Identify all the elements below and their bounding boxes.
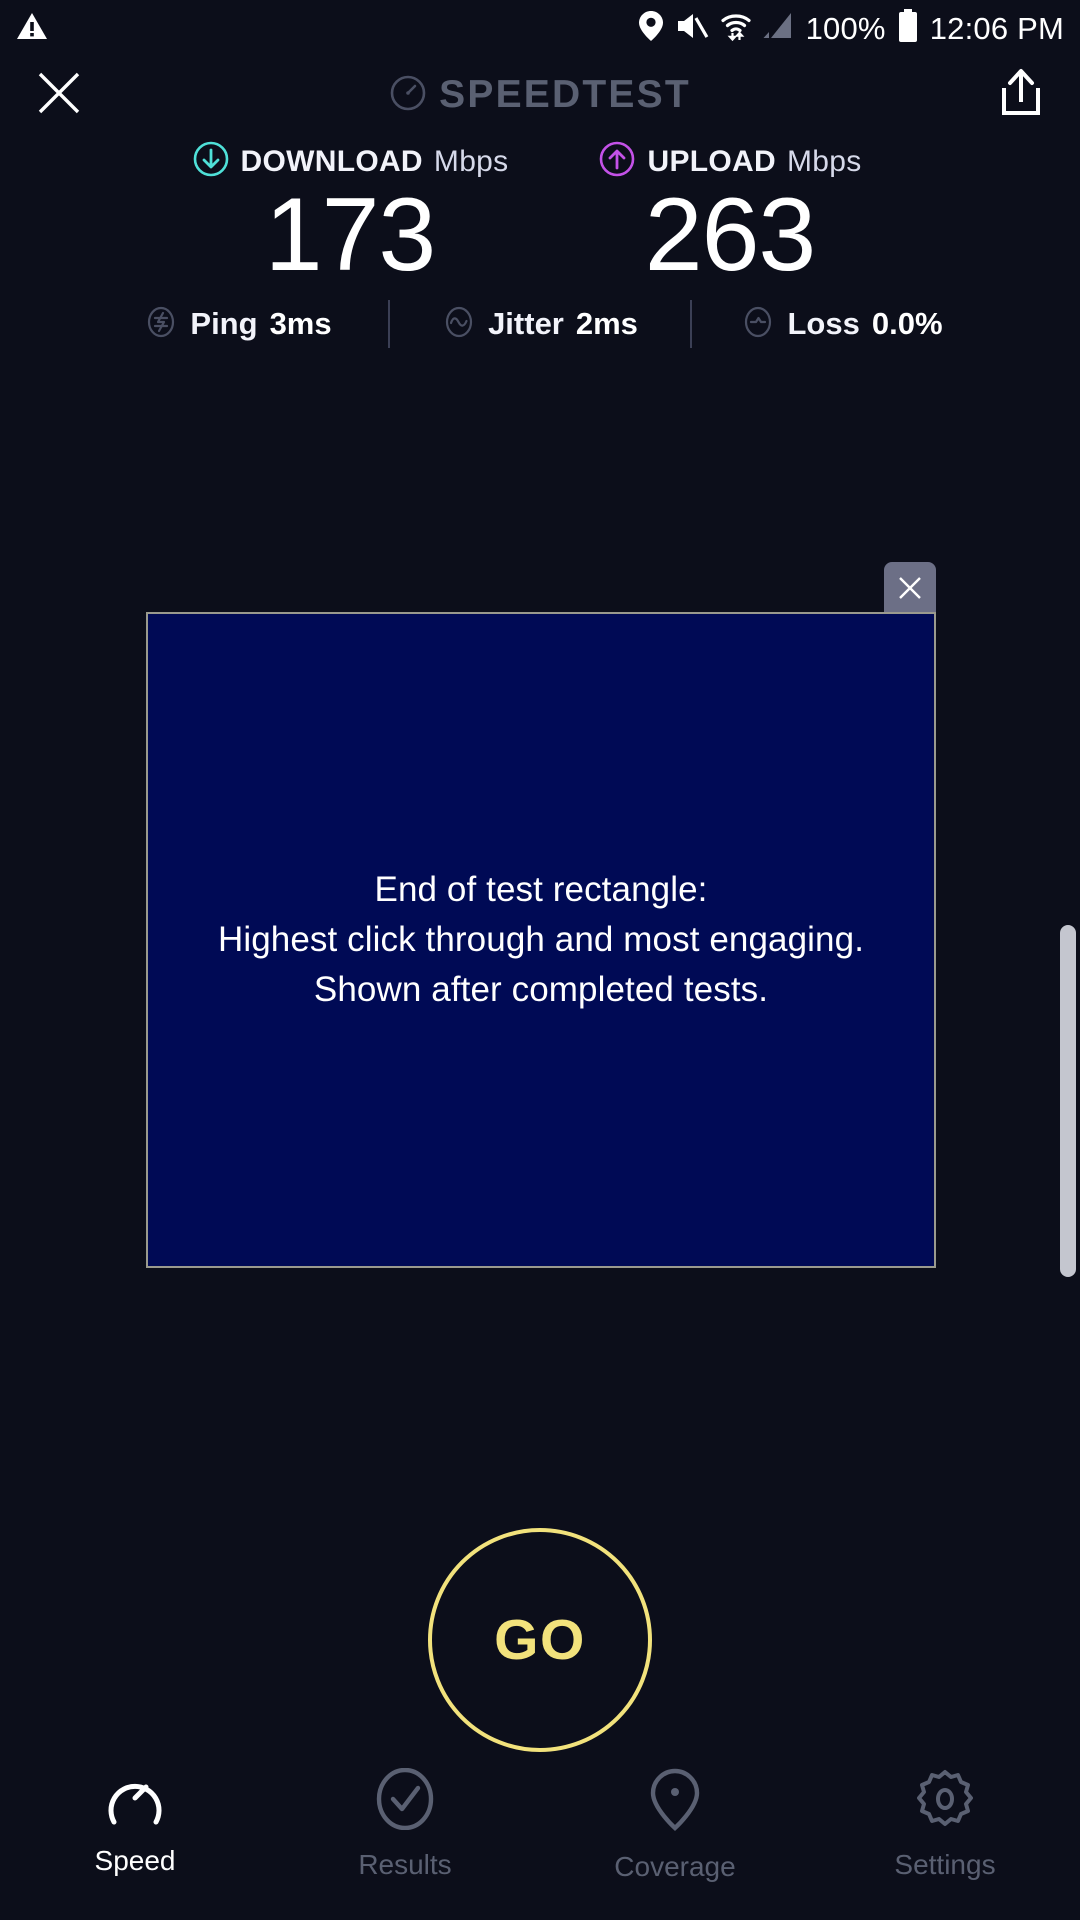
nav-label-speed: Speed <box>95 1845 176 1877</box>
gear-icon <box>914 1768 976 1835</box>
share-button[interactable] <box>998 68 1044 123</box>
download-arrow-icon <box>192 140 230 183</box>
ping-metric: Ping 3ms <box>88 305 388 344</box>
cellular-signal-icon <box>763 11 795 46</box>
jitter-icon <box>442 305 476 344</box>
clock-label: 12:06 PM <box>930 13 1064 44</box>
download-unit: Mbps <box>434 145 509 179</box>
download-label: DOWNLOAD <box>241 145 423 179</box>
wifi-icon <box>720 10 752 47</box>
loss-value: 0.0% <box>872 306 943 342</box>
download-upload-row: DOWNLOAD Mbps 173 UPLOAD Mbps 263 <box>0 140 1080 291</box>
location-pin-icon <box>638 10 664 47</box>
jitter-label: Jitter <box>488 306 564 342</box>
nav-item-settings[interactable]: Settings <box>810 1768 1080 1881</box>
ping-label: Ping <box>190 306 257 342</box>
close-icon <box>896 574 924 602</box>
ping-value: 3ms <box>270 306 332 342</box>
upload-value: 263 <box>645 179 816 291</box>
battery-percent-label: 100% <box>806 13 886 44</box>
warning-triangle-icon <box>16 11 48 46</box>
loss-icon <box>741 305 775 344</box>
ad-text: End of test rectangle: Highest click thr… <box>218 865 864 1014</box>
battery-full-icon <box>897 9 919 48</box>
download-metric: DOWNLOAD Mbps 173 <box>160 140 540 291</box>
bottom-navigation: Speed Results Coverage Settings <box>0 1752 1080 1920</box>
vertical-scrollbar[interactable] <box>1060 925 1076 1277</box>
nav-label-settings: Settings <box>894 1849 995 1881</box>
loss-metric: Loss 0.0% <box>692 305 992 344</box>
status-bar-right: 100% 12:06 PM <box>638 9 1064 48</box>
nav-label-coverage: Coverage <box>614 1851 735 1883</box>
speedometer-icon <box>104 1768 166 1831</box>
ping-icon <box>144 305 178 344</box>
loss-label: Loss <box>787 306 859 342</box>
close-button[interactable] <box>36 70 82 121</box>
go-button-label: GO <box>494 1607 586 1673</box>
ad-line-3: Shown after completed tests. <box>218 965 864 1015</box>
jitter-value: 2ms <box>576 306 638 342</box>
nav-label-results: Results <box>358 1849 451 1881</box>
upload-metric: UPLOAD Mbps 263 <box>540 140 920 291</box>
jitter-metric: Jitter 2ms <box>390 305 690 344</box>
app-header: SPEEDTEST <box>0 56 1080 134</box>
location-pin-icon <box>647 1768 703 1837</box>
mute-icon <box>675 11 709 46</box>
nav-item-speed[interactable]: Speed <box>0 1768 270 1877</box>
app-title-group: SPEEDTEST <box>0 73 1080 117</box>
ad-close-button[interactable] <box>884 562 936 614</box>
advertisement-banner[interactable]: End of test rectangle: Highest click thr… <box>146 612 936 1268</box>
page-title: SPEEDTEST <box>439 73 691 117</box>
nav-item-results[interactable]: Results <box>270 1768 540 1881</box>
check-circle-icon <box>374 1768 436 1835</box>
nav-item-coverage[interactable]: Coverage <box>540 1768 810 1883</box>
upload-unit: Mbps <box>787 145 862 179</box>
connection-metrics-row: Ping 3ms Jitter 2ms Loss 0.0% <box>0 300 1080 348</box>
ad-line-2: Highest click through and most engaging. <box>218 915 864 965</box>
go-button[interactable]: GO <box>428 1528 652 1752</box>
upload-arrow-icon <box>598 140 636 183</box>
status-bar: 100% 12:06 PM <box>0 0 1080 56</box>
speed-results: DOWNLOAD Mbps 173 UPLOAD Mbps 263 <box>0 140 1080 291</box>
speedometer-icon <box>389 74 427 117</box>
upload-label: UPLOAD <box>647 145 775 179</box>
ad-line-1: End of test rectangle: <box>218 865 864 915</box>
status-bar-left <box>16 11 48 46</box>
download-value: 173 <box>265 179 436 291</box>
